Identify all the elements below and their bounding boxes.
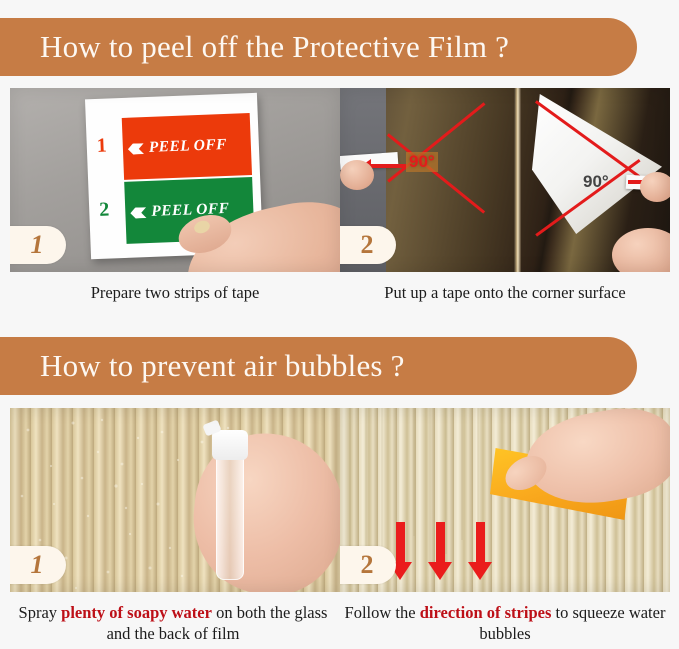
- pull-direction-arrow-left: [370, 164, 406, 168]
- step-badge-2-2: 2: [340, 546, 396, 584]
- step-image-prepare-tape: 1 PEEL OFF 2 PEEL OFF 1: [10, 88, 340, 272]
- step-image-apply-tape-corner: 90° 90° 2: [340, 88, 670, 272]
- spray-bottle: [216, 452, 244, 580]
- step-badge-2-1: 1: [10, 546, 66, 584]
- caption-step-2-2: Follow the direction of stripes to squee…: [344, 602, 666, 644]
- caption-emphasis: plenty of soapy water: [61, 603, 212, 622]
- instruction-sheet: How to peel off the Protective Film ? 1 …: [0, 0, 679, 649]
- step-badge-1-1: 1: [10, 226, 66, 264]
- fingertip-left: [340, 160, 374, 190]
- section-title-peel-off: How to peel off the Protective Film ?: [0, 29, 509, 65]
- angle-label-right: 90°: [583, 172, 609, 192]
- caption-step-2-1: Spray plenty of soapy water on both the …: [8, 602, 338, 644]
- caption-step-1-1: Prepare two strips of tape: [14, 282, 336, 303]
- caption-emphasis: direction of stripes: [420, 603, 552, 622]
- direction-arrow-3: [476, 522, 485, 564]
- caption-text: Follow the: [345, 603, 420, 622]
- caption-step-1-2: Put up a tape onto the corner surface: [344, 282, 666, 303]
- step-badge-1-2: 2: [340, 226, 396, 264]
- tape-strip-red: PEEL OFF: [122, 113, 252, 180]
- direction-arrow-1: [396, 522, 405, 564]
- step-image-squeegee-stripes: 2: [340, 408, 670, 592]
- tape-row-number-2: 2: [99, 199, 110, 222]
- section-banner-air-bubbles: How to prevent air bubbles ?: [0, 337, 637, 395]
- spray-bottle-cap: [212, 430, 248, 460]
- caption-text: Spray: [19, 603, 62, 622]
- corner-seam: [514, 88, 521, 272]
- step-badge-number: 2: [349, 552, 374, 578]
- step-badge-number: 1: [19, 232, 44, 258]
- fingertip-right: [640, 172, 670, 202]
- angle-label-left: 90°: [406, 152, 438, 172]
- section-title-air-bubbles: How to prevent air bubbles ?: [0, 348, 405, 384]
- step-badge-number: 2: [349, 232, 374, 258]
- tape-row-number-1: 1: [96, 135, 107, 158]
- direction-arrow-2: [436, 522, 445, 564]
- section-banner-peel-off: How to peel off the Protective Film ?: [0, 18, 637, 76]
- step-badge-number: 1: [19, 552, 44, 578]
- step-image-spray-soapy-water: 1: [10, 408, 340, 592]
